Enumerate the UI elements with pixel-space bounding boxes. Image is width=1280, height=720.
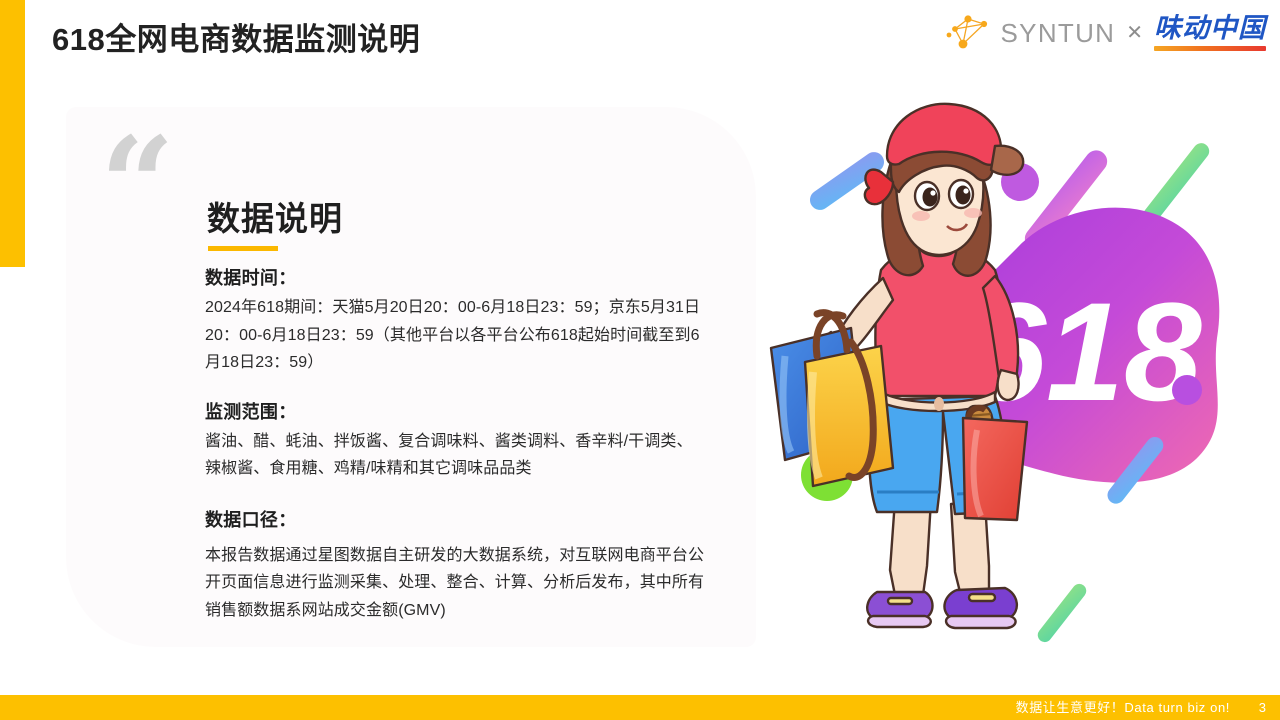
girl-with-shopping-bags (771, 104, 1027, 628)
section-label: 数据口径： (205, 507, 705, 534)
card-heading: 数据说明 (207, 192, 343, 240)
page-title: 618全网电商数据监测说明 (52, 14, 420, 59)
page-number: 3 (1256, 701, 1266, 714)
red-tote-bag (963, 408, 1027, 520)
section-body: 2024年618期间：天猫5月20日20：00-6月18日23：59；京东5月3… (205, 294, 705, 377)
green-streak-decoration-2 (1035, 581, 1089, 645)
shopping-girl-618-illustration: 618 (755, 100, 1255, 660)
purple-dot-decoration-2 (1172, 375, 1202, 405)
section-monitoring-scope: 监测范围： 酱油、醋、蚝油、拌饭酱、复合调味料、酱类调料、香辛料/干调类、辣椒酱… (205, 399, 705, 483)
section-body: 酱油、醋、蚝油、拌饭酱、复合调味料、酱类调料、香辛料/干调类、辣椒酱、食用糖、鸡… (205, 428, 705, 483)
footer-bar: 数据让生意更好！Data turn biz on! 3 (0, 695, 1280, 720)
section-label: 监测范围： (205, 399, 705, 426)
section-body: 本报告数据通过星图数据自主研发的大数据系统，对互联网电商平台公开页面信息进行监测… (205, 542, 705, 625)
brand-lockup: SYNTUN ✕ 味动中国 (946, 11, 1266, 55)
syntun-network-nodes-icon (946, 13, 992, 53)
brand-name: SYNTUN (1001, 20, 1116, 46)
quote-mark-icon: “ (100, 120, 175, 250)
brand-separator-icon: ✕ (1124, 23, 1145, 43)
slide-root: 618全网电商数据监测说明 SYNTUN ✕ 味动中国 “ 数据 (0, 0, 1280, 720)
sections-list: 数据时间： 2024年618期间：天猫5月20日20：00-6月18日23：59… (205, 265, 705, 624)
section-data-caliber: 数据口径： 本报告数据通过星图数据自主研发的大数据系统，对互联网电商平台公开页面… (205, 507, 705, 625)
partner-logo: 味动中国 (1154, 15, 1266, 50)
partner-underline (1154, 46, 1266, 51)
section-data-time: 数据时间： 2024年618期间：天猫5月20日20：00-6月18日23：59… (205, 265, 705, 377)
yellow-shopping-bag (805, 346, 893, 486)
partner-name: 味动中国 (1154, 15, 1266, 43)
section-label: 数据时间： (205, 265, 705, 292)
heading-underline (208, 246, 278, 251)
left-accent-bar (0, 0, 25, 267)
footer-tagline: 数据让生意更好！Data turn biz on! (1016, 701, 1230, 714)
